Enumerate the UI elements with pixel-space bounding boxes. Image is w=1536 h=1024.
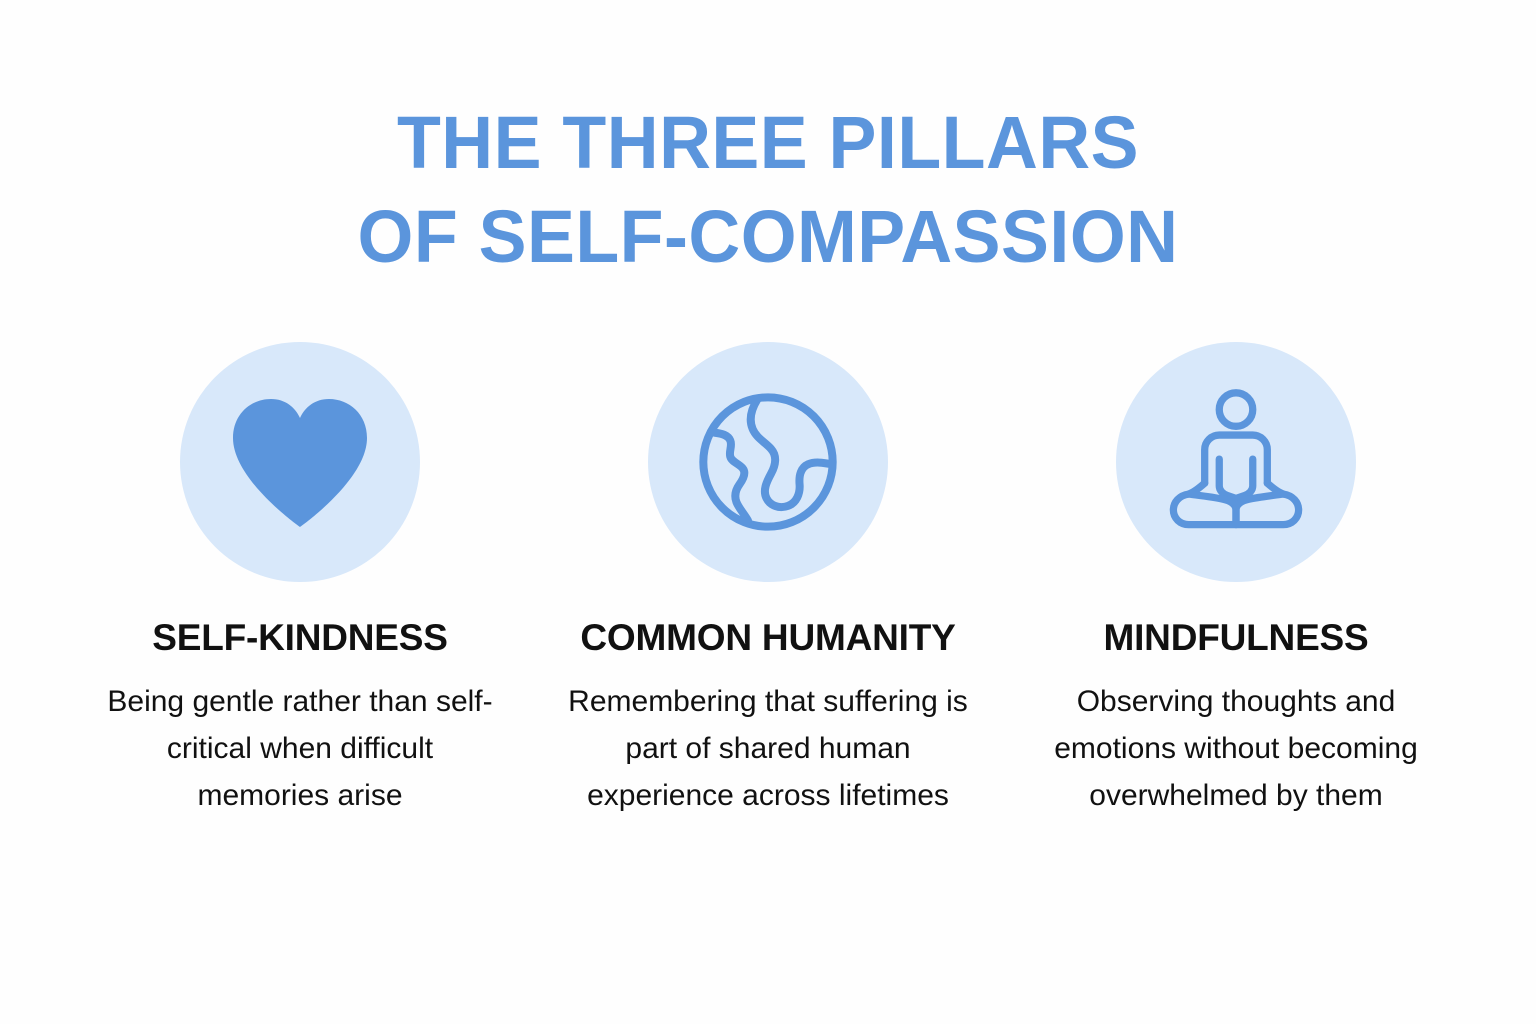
globe-icon — [691, 385, 845, 539]
page-title-line-1: THE THREE PILLARS — [23, 96, 1513, 190]
heart-icon — [225, 394, 375, 530]
pillar-self-kindness: SELF-KINDNESS Being gentle rather than s… — [66, 342, 534, 819]
pillars-row: SELF-KINDNESS Being gentle rather than s… — [0, 342, 1536, 819]
pillar-heading: MINDFULNESS — [1103, 616, 1368, 660]
pillar-description: Observing thoughts and emotions without … — [1036, 678, 1436, 819]
page-title-line-2: OF SELF-COMPASSION — [23, 190, 1513, 284]
pillar-description: Remembering that suffering is part of sh… — [553, 678, 983, 819]
icon-badge-self-kindness — [180, 342, 420, 582]
pillar-mindfulness: MINDFULNESS Observing thoughts and emoti… — [1002, 342, 1470, 819]
infographic-canvas: THE THREE PILLARS OF SELF-COMPASSION SEL… — [0, 0, 1536, 1024]
icon-badge-common-humanity — [648, 342, 888, 582]
pillar-heading: SELF-KINDNESS — [152, 616, 447, 660]
pillar-heading: COMMON HUMANITY — [580, 616, 955, 660]
pillar-description: Being gentle rather than self-critical w… — [100, 678, 500, 819]
meditation-icon — [1163, 387, 1309, 537]
pillar-common-humanity: COMMON HUMANITY Remembering that sufferi… — [534, 342, 1002, 819]
icon-badge-mindfulness — [1116, 342, 1356, 582]
page-title: THE THREE PILLARS OF SELF-COMPASSION — [0, 96, 1536, 284]
